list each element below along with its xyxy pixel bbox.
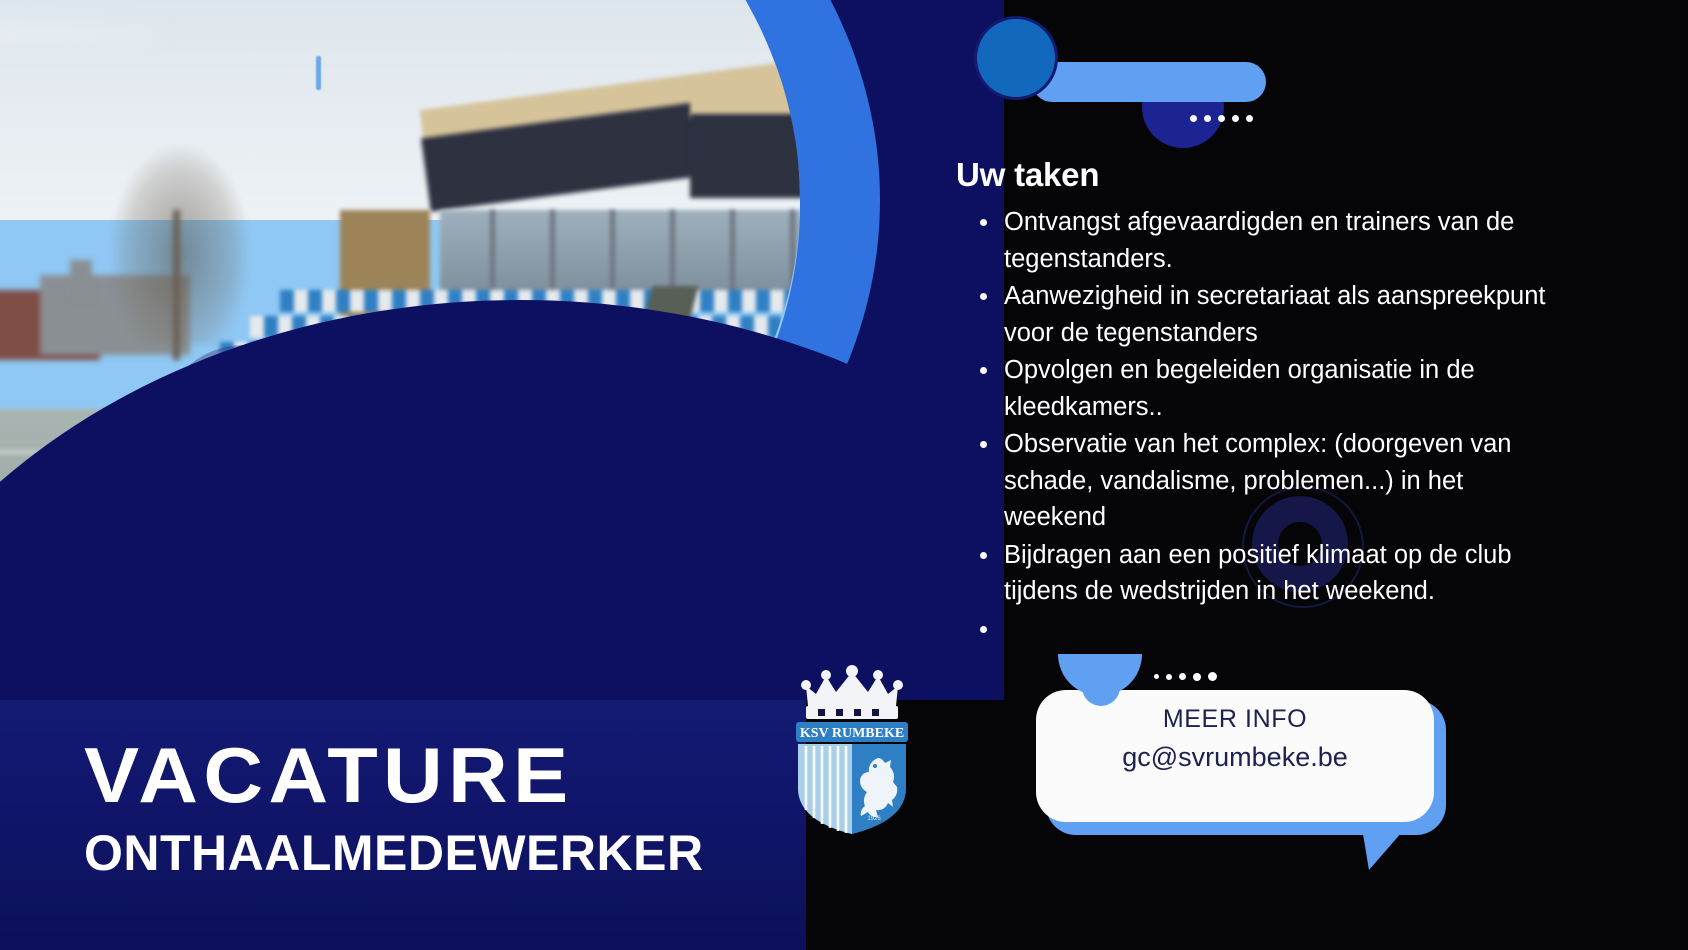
ellipsis-dots-icon <box>1190 115 1253 122</box>
photo-mullion <box>490 210 495 296</box>
photo-mullion <box>550 210 555 296</box>
tasks-list: Ontvangst afgevaardigden en trainers van… <box>952 204 1558 611</box>
title-bar: VACATURE ONTHAALMEDEWERKER <box>0 700 806 950</box>
deco-blue-circle <box>974 16 1058 100</box>
list-item: Aanwezigheid in secretariaat als aanspre… <box>978 278 1558 351</box>
bubble-text: MEER INFO gc@svrumbeke.be <box>1036 700 1434 776</box>
photo-mullion <box>610 210 615 296</box>
bubble-email[interactable]: gc@svrumbeke.be <box>1036 738 1434 776</box>
ellipsis-dots-icon <box>1154 672 1217 681</box>
photo-tree <box>110 145 250 345</box>
list-item: Ontvangst afgevaardigden en trainers van… <box>978 204 1558 277</box>
crown-icon <box>801 665 903 719</box>
contact-bubble[interactable]: MEER INFO gc@svrumbeke.be <box>1030 648 1450 863</box>
bubble-label: MEER INFO <box>1036 700 1434 738</box>
crest-year: 1926 <box>867 816 881 822</box>
photo-roof <box>690 78 800 118</box>
vacancy-poster: VACATURE ONTHAALMEDEWERKER KSV RUMBEKE <box>0 0 1688 950</box>
list-item: Bijdragen aan een positief klimaat op de… <box>978 537 1558 610</box>
page-subtitle: ONTHAALMEDEWERKER <box>84 828 704 878</box>
section-heading: Uw taken <box>956 156 1099 194</box>
photo-chimney <box>70 260 92 300</box>
club-crest-logo: KSV RUMBEKE 1926 <box>792 660 912 835</box>
crest-banner-text: KSV RUMBEKE <box>800 726 904 741</box>
list-item: Opvolgen en begeleiden organisatie in de… <box>978 352 1558 425</box>
page-title: VACATURE <box>84 736 573 814</box>
photo-mullion <box>730 210 735 296</box>
text-caret-icon <box>316 56 321 90</box>
photo-mullion <box>670 210 675 296</box>
crest-svg: KSV RUMBEKE 1926 <box>792 660 912 835</box>
photo-tree-trunk <box>173 210 180 360</box>
deco-rounded-bar <box>1032 62 1266 102</box>
list-item: Observatie van het complex: (doorgeven v… <box>978 426 1558 536</box>
bubble-tail <box>1360 816 1416 870</box>
photo-mullion <box>790 210 795 296</box>
photo-roof-under <box>690 114 800 198</box>
photo-panel <box>0 0 1004 700</box>
